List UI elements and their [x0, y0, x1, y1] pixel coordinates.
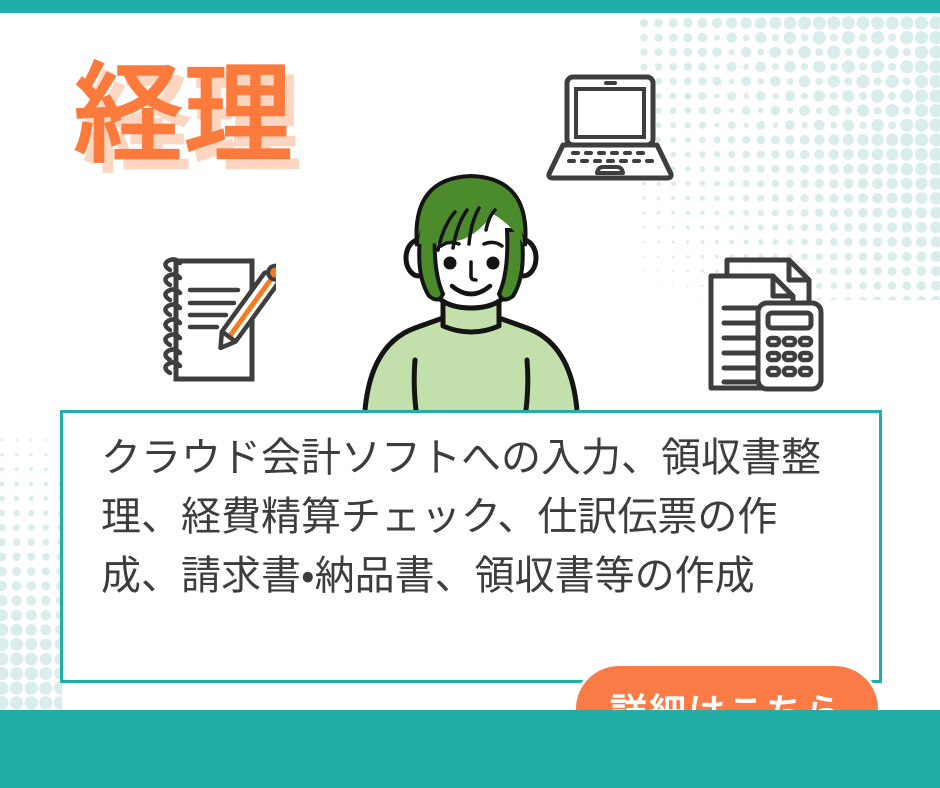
laptop-icon: [545, 72, 675, 182]
top-accent-bar: [0, 0, 940, 13]
bottom-accent-bar: [0, 710, 940, 788]
page-title: 経理: [74, 58, 294, 171]
description-text: クラウド会計ソフトへの入力、領収書整理、経費精算チェック、仕訳伝票の作成、請求書…: [101, 429, 857, 606]
description-box: クラウド会計ソフトへの入力、領収書整理、経費精算チェック、仕訳伝票の作成、請求書…: [60, 410, 882, 683]
halftone-dots-left: [0, 432, 62, 710]
person-illustration: [343, 168, 599, 410]
notebook-pencil-icon: [158, 252, 276, 388]
documents-calculator-icon: [703, 256, 831, 396]
banner-root: 経理: [0, 0, 940, 788]
